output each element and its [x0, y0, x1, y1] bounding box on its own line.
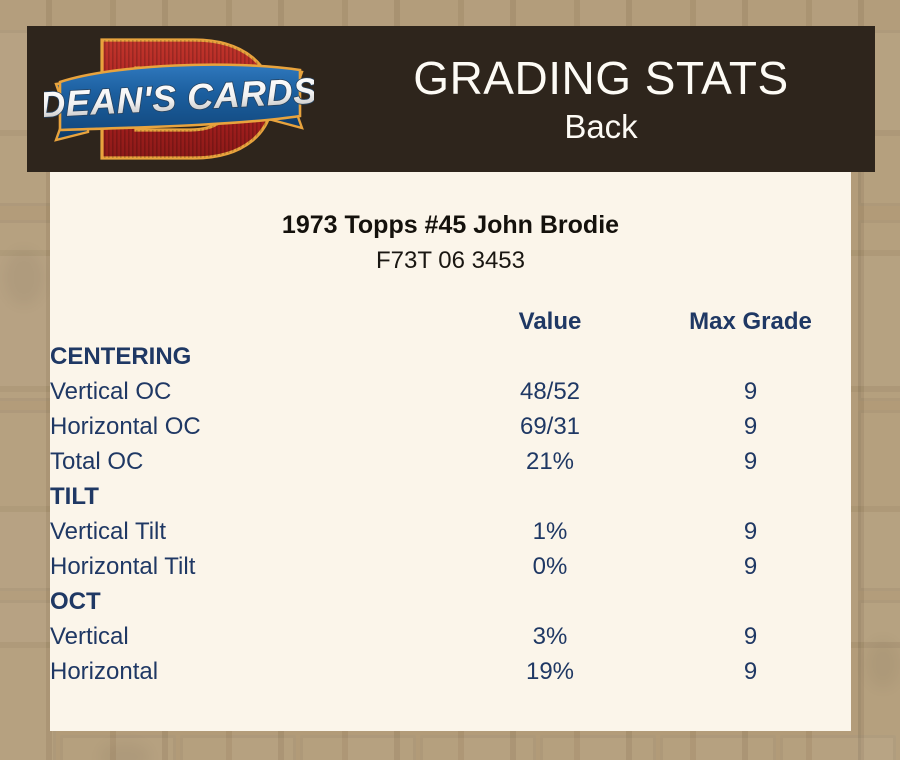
grading-stats-page: DEAN'S CARDS GRADING STATS Back 1973 Top… [0, 0, 900, 760]
stat-value: 3% [450, 619, 650, 654]
stat-label: Total OC [50, 444, 450, 479]
table-row: Horizontal Tilt0%9 [50, 549, 851, 584]
table-row: Vertical Tilt1%9 [50, 514, 851, 549]
section-header-label: TILT [50, 479, 450, 514]
stat-label: Horizontal Tilt [50, 549, 450, 584]
section-header-grade-spacer [650, 479, 851, 514]
table-row: Total OC21%9 [50, 444, 851, 479]
section-header-value-spacer [450, 479, 650, 514]
table-row: Vertical3%9 [50, 619, 851, 654]
stats-table-head: Value Max Grade [50, 304, 851, 339]
stat-label: Vertical OC [50, 374, 450, 409]
table-row: Horizontal OC69/319 [50, 409, 851, 444]
background-card-image [660, 735, 776, 760]
background-card-image [540, 735, 656, 760]
stat-max-grade: 9 [650, 444, 851, 479]
section-header-grade-spacer [650, 339, 851, 374]
stat-label: Vertical Tilt [50, 514, 450, 549]
background-smudge [866, 640, 900, 688]
stat-max-grade: 9 [650, 374, 851, 409]
section-header-row: TILT [50, 479, 851, 514]
stat-value: 69/31 [450, 409, 650, 444]
background-card-image [858, 410, 900, 591]
background-card-image [0, 410, 56, 591]
section-header-value-spacer [450, 584, 650, 619]
card-code: F73T 06 3453 [50, 247, 851, 275]
background-card-image [858, 220, 900, 401]
section-header-grade-spacer [650, 584, 851, 619]
stat-label: Horizontal OC [50, 409, 450, 444]
card-title: 1973 Topps #45 John Brodie [50, 210, 851, 240]
section-header-row: CENTERING [50, 339, 851, 374]
stat-label: Vertical [50, 619, 450, 654]
grading-stats-table: Value Max Grade CENTERINGVertical OC48/5… [50, 304, 851, 689]
background-card-image [300, 735, 416, 760]
table-header-row: Value Max Grade [50, 304, 851, 339]
section-header-label: OCT [50, 584, 450, 619]
background-card-image [420, 735, 536, 760]
stat-max-grade: 9 [650, 619, 851, 654]
background-card-image [0, 220, 56, 401]
stat-max-grade: 9 [650, 549, 851, 584]
table-row: Horizontal19%9 [50, 654, 851, 689]
header-bar: DEAN'S CARDS GRADING STATS Back [27, 26, 875, 172]
section-header-label: CENTERING [50, 339, 450, 374]
background-card-image [180, 735, 296, 760]
deans-cards-logo[interactable]: DEAN'S CARDS [44, 28, 314, 170]
page-subtitle: Back [564, 107, 637, 147]
column-header-section [50, 304, 450, 339]
section-header-row: OCT [50, 584, 851, 619]
table-row: Vertical OC48/529 [50, 374, 851, 409]
stat-max-grade: 9 [650, 654, 851, 689]
stats-table-body: CENTERINGVertical OC48/529Horizontal OC6… [50, 339, 851, 689]
header-title-block: GRADING STATS Back [327, 26, 875, 172]
column-header-value: Value [450, 304, 650, 339]
stat-value: 19% [450, 654, 650, 689]
section-header-value-spacer [450, 339, 650, 374]
stat-value: 21% [450, 444, 650, 479]
stat-value: 1% [450, 514, 650, 549]
stat-label: Horizontal [50, 654, 450, 689]
page-title: GRADING STATS [413, 51, 788, 105]
content-panel: 1973 Topps #45 John Brodie F73T 06 3453 … [50, 172, 851, 731]
column-header-max-grade: Max Grade [650, 304, 851, 339]
stat-value: 0% [450, 549, 650, 584]
stat-max-grade: 9 [650, 409, 851, 444]
background-card-image [0, 600, 56, 760]
stat-value: 48/52 [450, 374, 650, 409]
background-card-image [780, 735, 896, 760]
stat-max-grade: 9 [650, 514, 851, 549]
background-smudge [4, 250, 44, 305]
